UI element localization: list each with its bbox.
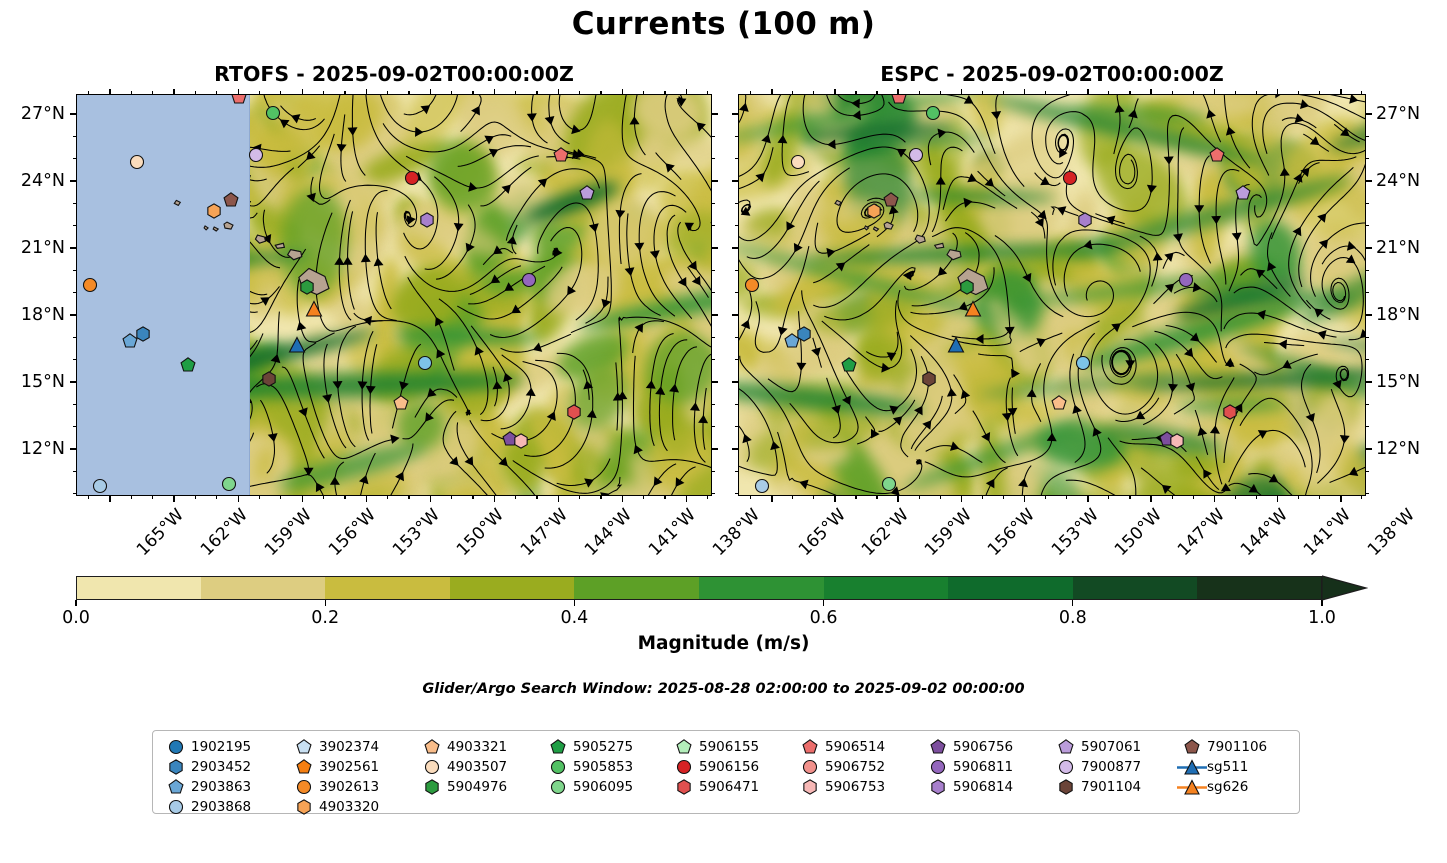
platform-marker-2903868[interactable]	[1075, 355, 1091, 371]
axis-tick	[643, 496, 644, 499]
axis-tick	[919, 91, 920, 94]
axis-tick	[131, 91, 132, 94]
kauai-island	[884, 222, 893, 229]
nihoa-island	[835, 200, 841, 205]
legend-item-5905275[interactable]: 5905275	[543, 737, 669, 757]
axis-tick	[430, 496, 432, 502]
legend-label: 5907061	[1081, 739, 1141, 755]
axis-tick	[1024, 89, 1026, 94]
axis-tick	[876, 91, 877, 94]
platform-marker-4903321[interactable]	[1051, 395, 1067, 411]
axis-tick	[712, 270, 715, 271]
legend-item-sg511[interactable]: sg511	[1177, 757, 1309, 777]
legend-symbol-pentagon-icon	[1051, 739, 1081, 755]
axis-tick	[1277, 89, 1279, 94]
legend-label: 3902374	[319, 739, 379, 755]
platform-marker-5906471[interactable]	[1222, 404, 1238, 420]
axis-tick	[735, 158, 738, 159]
axis-tick	[238, 496, 240, 502]
legend-symbol-circle-icon	[669, 759, 699, 775]
axis-tick	[664, 91, 665, 94]
axis-tick	[792, 496, 793, 499]
lehua-islet	[865, 226, 869, 230]
platform-marker-4903507[interactable]	[790, 154, 806, 170]
axis-tick	[1366, 448, 1372, 450]
platform-marker-5904976[interactable]	[299, 279, 315, 295]
panel-title-espc: ESPC - 2025-09-02T00:00:00Z	[738, 62, 1366, 86]
x-tick-label: 156°W	[325, 505, 380, 560]
axis-tick	[70, 448, 76, 450]
colorbar-label: Magnitude (m/s)	[0, 633, 1447, 654]
axis-tick	[1172, 91, 1173, 94]
colorbar-segment	[948, 576, 1073, 600]
colorbar-tick	[574, 600, 575, 606]
axis-tick	[387, 496, 388, 499]
molokai-island	[275, 243, 284, 248]
platform-marker-5906514[interactable]	[1209, 147, 1225, 163]
axis-tick	[1129, 496, 1130, 499]
axis-tick	[940, 91, 941, 94]
axis-tick	[622, 496, 624, 502]
platform-marker-7901106[interactable]	[223, 192, 239, 208]
colorbar-tick-label: 0.4	[560, 608, 588, 628]
axis-tick	[1045, 91, 1046, 94]
axis-tick	[1366, 426, 1369, 427]
legend-item-5905853[interactable]: 5905853	[543, 757, 669, 777]
axis-tick	[876, 496, 877, 499]
axis-tick	[712, 203, 715, 204]
axis-tick	[515, 496, 516, 499]
platform-marker-3902613[interactable]	[82, 277, 98, 293]
legend-symbol-circle-icon	[161, 799, 191, 815]
axis-tick	[919, 496, 920, 499]
nihoa-island	[174, 200, 180, 205]
platform-marker-4903320[interactable]	[866, 203, 882, 219]
axis-tick	[88, 91, 89, 94]
axis-tick	[1366, 203, 1369, 204]
legend-item-5906155[interactable]: 5906155	[669, 737, 795, 757]
legend-item-2903863[interactable]: 2903863	[161, 777, 289, 797]
axis-tick	[173, 89, 175, 94]
legend-symbol-hexagon-icon	[161, 759, 191, 775]
maui-island	[947, 250, 961, 260]
x-tick-label: 153°W	[1048, 505, 1103, 560]
legend-item-5906514[interactable]: 5906514	[795, 737, 923, 757]
axis-tick	[387, 91, 388, 94]
legend-item-5907061[interactable]: 5907061	[1051, 737, 1177, 757]
axis-tick	[1366, 292, 1369, 293]
axis-tick	[1235, 91, 1236, 94]
axis-tick	[961, 89, 963, 94]
platform-marker-2903452[interactable]	[796, 326, 812, 342]
platform-marker-5906753[interactable]	[1169, 433, 1185, 449]
axis-tick	[1366, 404, 1369, 405]
legend-symbol-circle-icon	[795, 759, 825, 775]
platform-marker-5906095[interactable]	[881, 476, 897, 492]
axis-tick	[1150, 496, 1152, 502]
x-tick-label: 156°W	[984, 505, 1039, 560]
legend-label: 5904976	[447, 779, 507, 795]
axis-tick	[643, 91, 644, 94]
colorbar-segment	[1073, 576, 1198, 600]
platform-marker-5906514[interactable]	[231, 94, 247, 105]
platform-marker-5906156[interactable]	[404, 170, 420, 186]
marker-legend[interactable]: 1902195290345229038632903868390237439025…	[152, 730, 1300, 814]
map-panel-rtofs[interactable]	[76, 94, 712, 496]
platform-marker-5906471[interactable]	[566, 404, 582, 420]
axis-tick	[1366, 247, 1372, 249]
y-tick-label-left: 12°N	[0, 439, 65, 459]
figure-title: Currents (100 m)	[0, 6, 1447, 42]
x-tick-label: 162°W	[858, 505, 913, 560]
axis-tick	[1319, 496, 1320, 499]
axis-tick	[366, 89, 368, 94]
legend-symbol-pentagon-icon	[795, 739, 825, 755]
legend-item-7901106[interactable]: 7901106	[1177, 737, 1309, 757]
axis-tick	[451, 496, 452, 499]
platform-marker-5906814[interactable]	[419, 212, 435, 228]
platform-marker-5907061[interactable]	[579, 185, 595, 201]
legend-symbol-circle-icon	[543, 759, 573, 775]
axis-tick	[1366, 270, 1369, 271]
molokai-island	[935, 243, 944, 248]
x-tick-label: 141°W	[645, 505, 700, 560]
axis-tick	[712, 404, 715, 405]
axis-tick	[195, 496, 196, 499]
platform-marker-5906095[interactable]	[221, 476, 237, 492]
platform-marker-5906814[interactable]	[1077, 212, 1093, 228]
legend-symbol-circle-icon	[161, 739, 191, 755]
colorbar-segment	[574, 576, 699, 600]
axis-tick	[73, 493, 76, 494]
axis-tick	[750, 91, 751, 94]
niihau-island	[213, 227, 218, 231]
legend-item-5904976[interactable]: 5904976	[417, 777, 543, 797]
legend-label: 1902195	[191, 739, 251, 755]
legend-item-3902561[interactable]: 3902561	[289, 757, 417, 777]
axis-tick	[1340, 89, 1342, 94]
platform-marker-5905853[interactable]	[925, 105, 941, 121]
platform-marker-4903320[interactable]	[206, 203, 222, 219]
platform-marker-7901106[interactable]	[883, 192, 899, 208]
axis-tick	[712, 136, 715, 137]
legend-column: 590706179008777901104	[1051, 737, 1177, 817]
axis-tick	[1003, 91, 1004, 94]
legend-symbol-circle-icon	[923, 759, 953, 775]
legend-label: 5906095	[573, 779, 633, 795]
legend-item-7900877[interactable]: 7900877	[1051, 757, 1177, 777]
axis-tick	[451, 91, 452, 94]
axis-tick	[70, 247, 76, 249]
axis-tick	[579, 496, 580, 499]
axis-tick	[834, 496, 836, 502]
axis-tick	[712, 426, 715, 427]
legend-item-5906471[interactable]: 5906471	[669, 777, 795, 797]
platform-marker-5906514[interactable]	[553, 147, 569, 163]
platform-marker-2903452[interactable]	[135, 326, 151, 342]
axis-tick	[131, 496, 132, 499]
x-tick-label: 165°W	[795, 505, 850, 560]
x-tick-label: 150°W	[453, 505, 508, 560]
axis-tick	[712, 113, 718, 115]
axis-tick	[707, 91, 708, 94]
axis-tick	[732, 180, 738, 182]
legend-item-sg626[interactable]: sg626	[1177, 777, 1309, 797]
axis-tick	[1256, 496, 1257, 499]
axis-tick	[536, 91, 537, 94]
legend-item-5906811[interactable]: 5906811	[923, 757, 1051, 777]
axis-tick	[1366, 359, 1369, 360]
axis-tick	[344, 91, 345, 94]
axis-tick	[408, 496, 409, 499]
y-tick-label-left: 15°N	[0, 372, 65, 392]
map-panel-espc[interactable]	[738, 94, 1366, 496]
platform-marker-2903868[interactable]	[417, 355, 433, 371]
legend-column: 490332149035075904976	[417, 737, 543, 817]
axis-tick	[408, 91, 409, 94]
legend-label: 2903452	[191, 759, 251, 775]
axis-tick	[712, 448, 718, 450]
axis-tick	[940, 496, 941, 499]
axis-tick	[735, 359, 738, 360]
x-tick-label: 153°W	[389, 505, 444, 560]
axis-tick	[1277, 496, 1279, 502]
legend-column: 7901106sg511sg626	[1177, 737, 1309, 817]
colorbar-segment	[450, 576, 575, 600]
axis-tick	[73, 203, 76, 204]
platform-marker-5905275[interactable]	[180, 357, 196, 373]
legend-label: 5906811	[953, 759, 1013, 775]
platform-marker-4903321[interactable]	[393, 395, 409, 411]
platform-marker-7900877[interactable]	[248, 147, 264, 163]
legend-symbol-hexagon-icon	[417, 779, 447, 795]
platform-marker-7901104[interactable]	[921, 371, 937, 387]
legend-item-5906752[interactable]: 5906752	[795, 757, 923, 777]
y-tick-label-left: 24°N	[0, 171, 65, 191]
axis-tick	[1172, 496, 1173, 499]
axis-tick	[323, 496, 324, 499]
legend-label: 5906753	[825, 779, 885, 795]
axis-tick	[1108, 91, 1109, 94]
platform-marker-5904976[interactable]	[959, 279, 975, 295]
legend-item-1902195[interactable]: 1902195	[161, 737, 289, 757]
legend-label: 7901104	[1081, 779, 1141, 795]
axis-tick	[732, 314, 738, 316]
legend-label: sg626	[1207, 779, 1248, 795]
colorbar-extend-arrow	[1322, 575, 1368, 601]
legend-symbol-hexagon-icon	[795, 779, 825, 795]
axis-tick	[1024, 496, 1026, 502]
platform-marker-sg626[interactable]	[305, 300, 323, 318]
platform-marker-2903868[interactable]	[92, 478, 108, 494]
axis-tick	[712, 158, 715, 159]
axis-tick	[152, 496, 153, 499]
x-tick-label: 144°W	[581, 505, 636, 560]
legend-label: sg511	[1207, 759, 1248, 775]
y-tick-label-right: 12°N	[1376, 439, 1420, 459]
legend-item-5906156[interactable]: 5906156	[669, 757, 795, 777]
x-tick-label: 141°W	[1300, 505, 1355, 560]
legend-item-2903452[interactable]: 2903452	[161, 757, 289, 777]
legend-item-5906095[interactable]: 5906095	[543, 777, 669, 797]
platform-marker-2903868[interactable]	[754, 478, 770, 494]
legend-symbol-pentagon-icon	[669, 739, 699, 755]
axis-tick	[792, 91, 793, 94]
legend-column: 3902374390256139026134903320	[289, 737, 417, 817]
axis-tick	[73, 337, 76, 338]
axis-tick	[897, 496, 899, 502]
axis-tick	[1256, 91, 1257, 94]
axis-tick	[1150, 89, 1152, 94]
axis-tick	[1366, 381, 1372, 383]
platform-marker-5907061[interactable]	[1235, 185, 1251, 201]
axis-tick	[834, 89, 836, 94]
legend-symbol-hexagon-icon	[923, 779, 953, 795]
platform-marker-5906811[interactable]	[1178, 272, 1194, 288]
axis-tick	[73, 292, 76, 293]
axis-tick	[712, 359, 715, 360]
legend-symbol-pentagon-icon	[1177, 739, 1207, 755]
axis-tick	[1366, 180, 1372, 182]
legend-label: 5906752	[825, 759, 885, 775]
axis-tick	[735, 136, 738, 137]
legend-symbol-circle-icon	[417, 759, 447, 775]
legend-label: 5906156	[699, 759, 759, 775]
axis-tick	[622, 89, 624, 94]
axis-tick	[732, 247, 738, 249]
axis-tick	[109, 89, 111, 94]
axis-tick	[216, 91, 217, 94]
x-tick-label: 147°W	[1174, 505, 1229, 560]
x-tick-label: 162°W	[197, 505, 252, 560]
legend-item-3902613[interactable]: 3902613	[289, 777, 417, 797]
legend-item-4903507[interactable]: 4903507	[417, 757, 543, 777]
x-tick-label: 138°W	[1364, 505, 1419, 560]
axis-tick	[88, 496, 89, 499]
axis-tick	[750, 496, 751, 499]
axis-tick	[712, 292, 715, 293]
axis-tick	[259, 91, 260, 94]
axis-tick	[1366, 113, 1372, 115]
legend-label: 4903320	[319, 799, 379, 815]
colorbar-tick-label: 1.0	[1308, 608, 1336, 628]
axis-tick	[259, 496, 260, 499]
axis-tick	[472, 496, 473, 499]
colorbar-segment	[201, 576, 326, 600]
axis-tick	[1087, 496, 1089, 502]
axis-tick	[735, 337, 738, 338]
axis-tick	[707, 496, 708, 499]
landmass-layer	[77, 95, 712, 496]
axis-tick	[600, 91, 601, 94]
axis-tick	[1366, 314, 1372, 316]
axis-tick	[712, 180, 718, 182]
axis-tick	[558, 496, 560, 502]
legend-label: 5906155	[699, 739, 759, 755]
axis-tick	[1319, 91, 1320, 94]
axis-tick	[280, 91, 281, 94]
axis-tick	[855, 496, 856, 499]
y-tick-label-right: 18°N	[1376, 305, 1420, 325]
legend-label: 2903863	[191, 779, 251, 795]
legend-item-3902374[interactable]: 3902374	[289, 737, 417, 757]
legend-item-4903320[interactable]: 4903320	[289, 797, 417, 817]
legend-label: 5905853	[573, 759, 633, 775]
axis-tick	[70, 180, 76, 182]
platform-marker-7901104[interactable]	[261, 371, 277, 387]
axis-tick	[1298, 496, 1299, 499]
platform-marker-7900877[interactable]	[908, 147, 924, 163]
legend-item-5906756[interactable]: 5906756	[923, 737, 1051, 757]
platform-marker-sg626[interactable]	[964, 300, 982, 318]
landmass-layer	[739, 95, 1366, 496]
legend-symbol-pentagon-icon	[543, 739, 573, 755]
axis-tick	[1366, 158, 1369, 159]
legend-item-7901104[interactable]: 7901104	[1051, 777, 1177, 797]
legend-item-4903321[interactable]: 4903321	[417, 737, 543, 757]
platform-marker-5906753[interactable]	[513, 433, 529, 449]
lehua-islet	[204, 226, 208, 230]
axis-tick	[1366, 225, 1369, 226]
legend-item-5906753[interactable]: 5906753	[795, 777, 923, 797]
legend-column: 590615559061565906471	[669, 737, 795, 817]
platform-marker-5905275[interactable]	[841, 357, 857, 373]
legend-label: 2903868	[191, 799, 251, 815]
legend-label: 7900877	[1081, 759, 1141, 775]
colorbar-segment	[824, 576, 949, 600]
axis-tick	[73, 359, 76, 360]
axis-tick	[73, 404, 76, 405]
platform-marker-sg511[interactable]	[288, 336, 306, 354]
colorbar-segment	[1197, 576, 1322, 600]
platform-marker-3902613[interactable]	[744, 277, 760, 293]
legend-column: 590651459067525906753	[795, 737, 923, 817]
platform-marker-5906156[interactable]	[1062, 170, 1078, 186]
axis-tick	[732, 448, 738, 450]
legend-symbol-pentagon-icon	[289, 739, 319, 755]
axis-tick	[536, 496, 537, 499]
platform-marker-5905853[interactable]	[265, 105, 281, 121]
axis-tick	[813, 496, 814, 499]
colorbar-tick	[823, 600, 824, 606]
axis-tick	[73, 270, 76, 271]
axis-tick	[712, 314, 718, 316]
legend-label: 4903507	[447, 759, 507, 775]
x-tick-label: 138°W	[709, 505, 764, 560]
legend-item-2903868[interactable]: 2903868	[161, 797, 289, 817]
legend-item-5906814[interactable]: 5906814	[923, 777, 1051, 797]
legend-symbol-pentagon-icon	[161, 779, 191, 795]
axis-tick	[600, 496, 601, 499]
platform-marker-sg511[interactable]	[947, 336, 965, 354]
y-tick-label-right: 27°N	[1376, 104, 1420, 124]
x-tick-label: 147°W	[517, 505, 572, 560]
colorbar[interactable]	[76, 576, 1322, 600]
axis-tick	[73, 158, 76, 159]
legend-symbol-pentagon-icon	[417, 739, 447, 755]
y-tick-label-left: 27°N	[0, 104, 65, 124]
platform-marker-5906811[interactable]	[521, 272, 537, 288]
legend-symbol-hexagon-icon	[289, 799, 319, 815]
platform-marker-5906514[interactable]	[891, 94, 907, 105]
legend-symbol-circle-icon	[289, 779, 319, 795]
axis-tick	[1361, 91, 1362, 94]
platform-marker-4903507[interactable]	[129, 154, 145, 170]
y-tick-label-left: 21°N	[0, 238, 65, 258]
axis-tick	[1298, 91, 1299, 94]
axis-tick	[173, 496, 175, 502]
axis-tick	[712, 337, 715, 338]
